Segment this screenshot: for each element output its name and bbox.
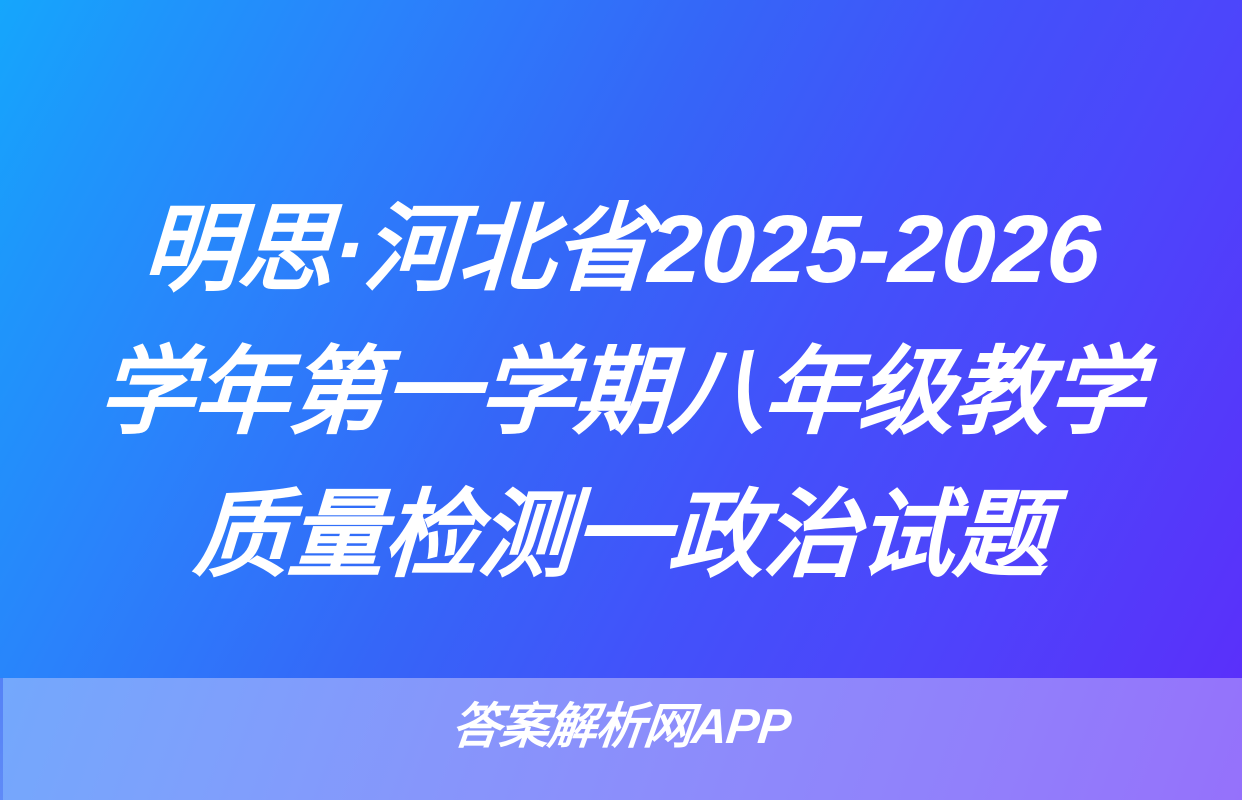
watermark-label: 答案解析网APP: [450, 703, 793, 752]
exam-title-poster: 明思·河北省2025-2026 学年第一学期八年级教学 质量检测一政治试题 答案…: [0, 0, 1242, 800]
title-line-2: 学年第一学期八年级教学: [0, 321, 1242, 464]
title-line-3: 质量检测一政治试题: [0, 464, 1242, 607]
poster-title: 明思·河北省2025-2026 学年第一学期八年级教学 质量检测一政治试题: [0, 178, 1242, 607]
title-line-1: 明思·河北省2025-2026: [0, 178, 1242, 321]
watermark: 答案解析网APP: [0, 703, 1242, 752]
